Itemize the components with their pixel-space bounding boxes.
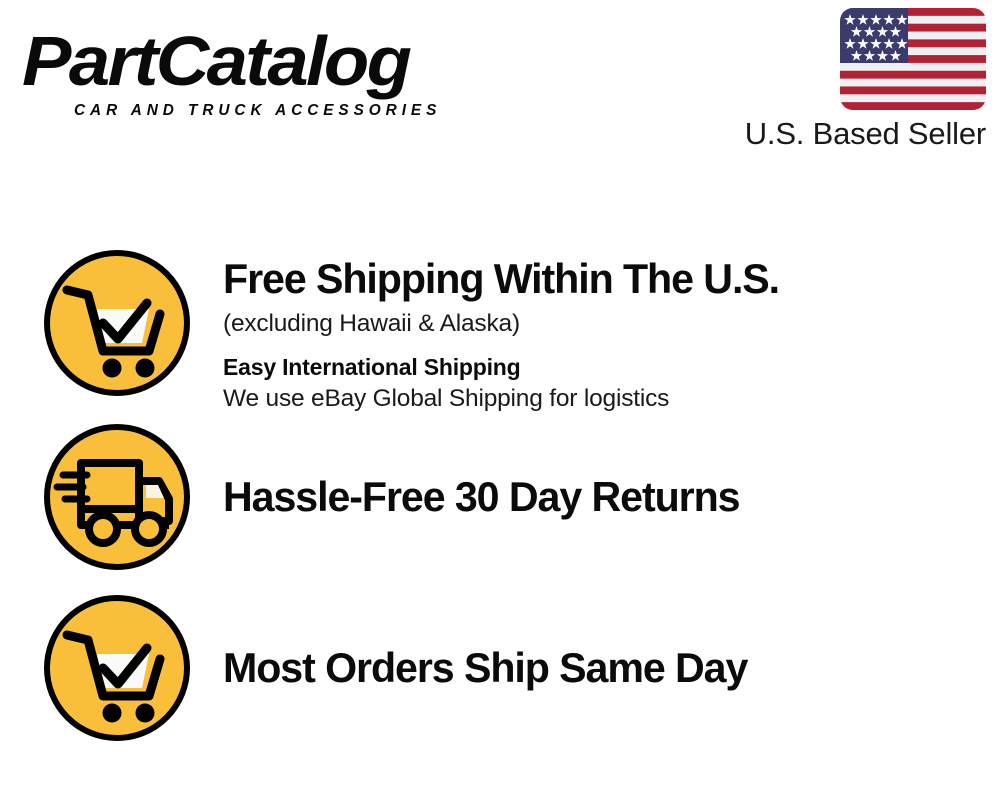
us-based-seller-badge: U.S. Based Seller <box>726 8 986 151</box>
feature-sub-note: We use eBay Global Shipping for logistic… <box>223 384 1000 414</box>
brand-logo[interactable]: PartCatalog CAR AND TRUCK ACCESSORIES <box>22 26 492 121</box>
feature-title: Hassle-Free 30 Day Returns <box>223 473 984 521</box>
feature-text-block: Free Shipping Within The U.S. (excluding… <box>223 255 1000 414</box>
us-based-seller-label: U.S. Based Seller <box>726 117 986 151</box>
delivery-truck-icon <box>41 421 193 573</box>
brand-wordmark: PartCatalog <box>22 26 520 96</box>
page-header: PartCatalog CAR AND TRUCK ACCESSORIES <box>0 0 1000 170</box>
feature-row: Free Shipping Within The U.S. (excluding… <box>0 247 1000 407</box>
feature-text-block: Most Orders Ship Same Day <box>223 644 1000 692</box>
feature-subtitle: (excluding Hawaii & Alaska) <box>223 309 1000 339</box>
shopping-cart-check-icon <box>41 247 193 399</box>
feature-title: Free Shipping Within The U.S. <box>223 255 984 303</box>
feature-title: Most Orders Ship Same Day <box>223 644 984 692</box>
feature-text-block: Hassle-Free 30 Day Returns <box>223 473 1000 521</box>
shopping-cart-check-icon <box>41 592 193 744</box>
brand-tagline: CAR AND TRUCK ACCESSORIES <box>74 102 441 120</box>
feature-row: Hassle-Free 30 Day Returns <box>0 418 1000 576</box>
feature-sub-heading: Easy International Shipping <box>223 353 1000 381</box>
feature-row: Most Orders Ship Same Day <box>0 589 1000 747</box>
us-flag-icon <box>840 8 986 110</box>
